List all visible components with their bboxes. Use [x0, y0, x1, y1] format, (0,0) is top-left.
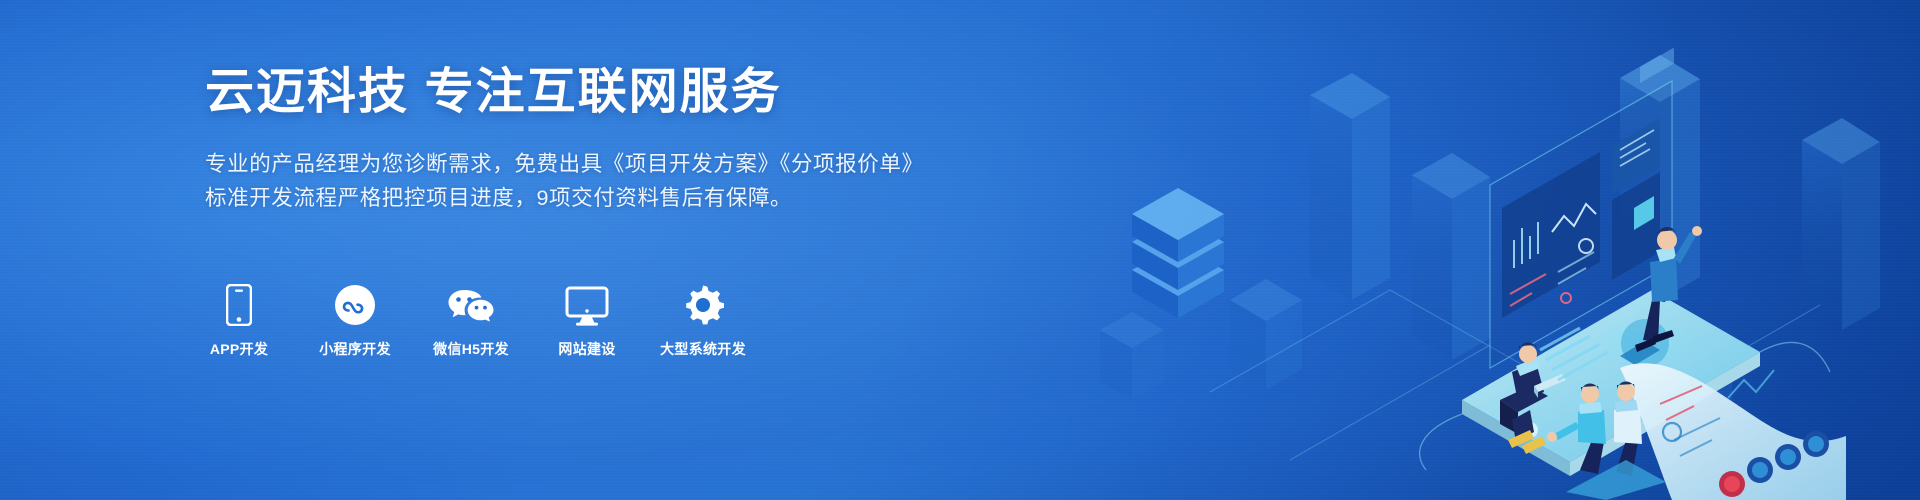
ground-grid-lines	[1210, 290, 1820, 460]
service-label: 网站建设	[558, 339, 615, 359]
two-people-conversing	[1547, 381, 1666, 500]
wechat-icon	[447, 282, 495, 326]
standing-person-pointing	[1635, 226, 1702, 352]
gear-icon	[682, 282, 724, 326]
subtitle-block: 专业的产品经理为您诊断需求，免费出具《项目开发方案》《分项报价单》 标准开发流程…	[205, 147, 1125, 215]
service-item-large-system[interactable]: 大型系统开发	[664, 282, 742, 359]
service-item-website[interactable]: 网站建设	[548, 282, 626, 359]
report-gauge-row	[1719, 431, 1829, 497]
subtitle-line-2: 标准开发流程严格把控项目进度，9项交付资料售后有保障。	[205, 181, 1125, 215]
floating-dashboard-screen	[1490, 81, 1672, 368]
page-title: 云迈科技 专注互联网服务	[205, 62, 1125, 123]
service-item-mini-program[interactable]: 小程序开发	[316, 282, 394, 359]
service-label: 大型系统开发	[660, 339, 746, 359]
promo-banner: 云迈科技 专注互联网服务 专业的产品经理为您诊断需求，免费出具《项目开发方案》《…	[0, 0, 1920, 500]
seated-person-with-laptop	[1500, 328, 1608, 454]
connector-curves	[1420, 342, 1830, 470]
tablet-platform	[1462, 290, 1760, 476]
server-stack	[1132, 188, 1224, 318]
mini-program-icon	[334, 282, 376, 326]
service-label: 小程序开发	[319, 339, 391, 359]
banner-copy: 云迈科技 专注互联网服务 专业的产品经理为您诊断需求，免费出具《项目开发方案》《…	[205, 62, 1125, 215]
service-list: APP开发 小程序开发 微信	[200, 282, 742, 359]
isometric-data-dashboard-illustration	[1060, 0, 1920, 500]
city-skyline-towers	[1100, 48, 1880, 440]
curved-data-report-sheet	[1620, 363, 1846, 500]
service-item-wechat-h5[interactable]: 微信H5开发	[432, 282, 510, 359]
mobile-phone-icon	[226, 282, 252, 326]
monitor-icon	[565, 282, 609, 326]
service-label: APP开发	[210, 339, 268, 359]
service-item-app[interactable]: APP开发	[200, 282, 278, 359]
service-label: 微信H5开发	[433, 339, 509, 359]
subtitle-line-1: 专业的产品经理为您诊断需求，免费出具《项目开发方案》《分项报价单》	[205, 147, 1125, 181]
